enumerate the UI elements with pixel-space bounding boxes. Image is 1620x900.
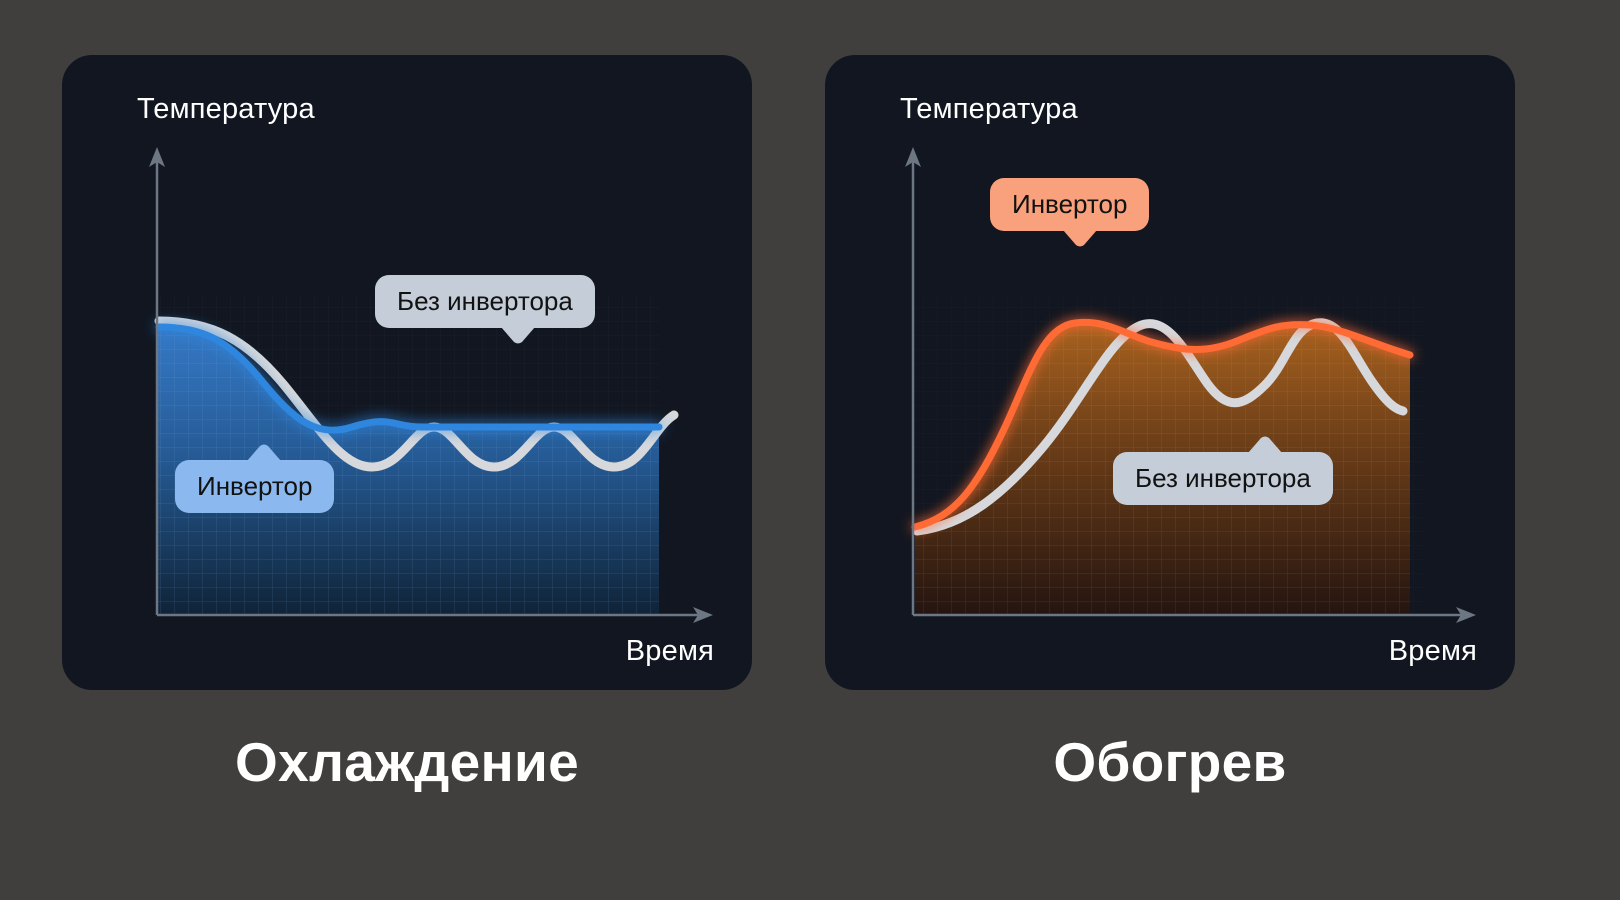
- cooling-chart: [62, 55, 752, 690]
- tooltip-no-inverter-label: Без инвертора: [1135, 463, 1311, 493]
- tooltip-inverter[interactable]: Инвертор: [175, 460, 334, 513]
- tooltip-tail-down-icon: [501, 327, 535, 344]
- y-axis-label: Температура: [900, 93, 1078, 126]
- heating-chart: [825, 55, 1515, 690]
- y-axis-label: Температура: [137, 93, 315, 126]
- x-axis-label: Время: [626, 635, 714, 668]
- caption-heating: Обогрев: [825, 730, 1515, 794]
- tooltip-no-inverter-label: Без инвертора: [397, 286, 573, 316]
- caption-cooling: Охлаждение: [62, 730, 752, 794]
- tooltip-tail-up-icon: [1248, 436, 1282, 453]
- x-axis-label: Время: [1389, 635, 1477, 668]
- infographic-root: Температура Время Без инвертора Инвертор: [0, 0, 1620, 900]
- tooltip-tail-down-icon: [1063, 230, 1097, 247]
- tooltip-inverter-label: Инвертор: [1012, 189, 1127, 219]
- panel-heating: Температура Время Инвертор Без инвертора: [825, 55, 1515, 690]
- tooltip-inverter-label: Инвертор: [197, 471, 312, 501]
- tooltip-no-inverter[interactable]: Без инвертора: [1113, 452, 1333, 505]
- panel-cooling: Температура Время Без инвертора Инвертор: [62, 55, 752, 690]
- tooltip-no-inverter[interactable]: Без инвертора: [375, 275, 595, 328]
- tooltip-tail-up-icon: [247, 444, 281, 461]
- tooltip-inverter[interactable]: Инвертор: [990, 178, 1149, 231]
